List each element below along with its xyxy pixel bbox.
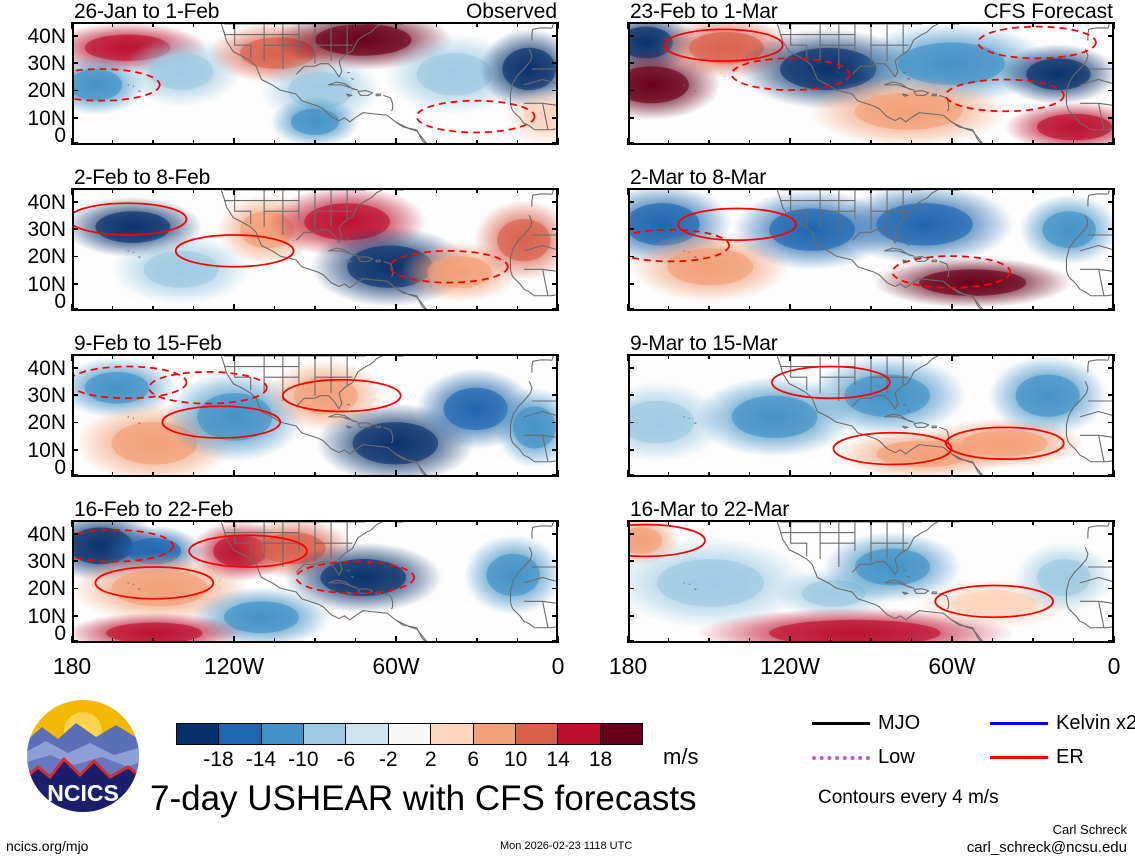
colorbar-swatch [601,724,642,744]
colorbar-swatch [177,724,219,744]
x-axis-labels-obs-4: 180120W60W0 [72,655,558,681]
y-axis-tick-label: 30N [27,219,66,240]
x-axis-tick-label: 120W [760,655,820,678]
legend-label: ER [1056,746,1084,769]
panel-title-fcst-3: 9-Mar to 15-Mar [630,333,778,354]
contour-interval-note: Contours every 4 m/s [818,787,999,809]
y-axis-tick-label: 30N [27,385,66,406]
colorbar-tick-label: -10 [288,748,318,772]
colorbar-swatch [262,724,304,744]
colorbar-tick-label: -2 [379,748,398,772]
x-axis-tick-label: 60W [928,655,975,678]
panel-title-obs-3: 9-Feb to 15-Feb [74,333,222,354]
y-axis-tick-label: 40N [27,358,66,379]
shading-field-fcst-2 [630,190,1112,309]
panel-title-obs-2: 2-Feb to 8-Feb [74,167,210,188]
x-axis-tick-label: 0 [552,655,565,678]
author-name: Carl Schreck [1053,822,1127,837]
y-axis-tick-label: 20N [27,80,66,101]
colorbar-tick-label: 10 [504,748,527,772]
colorbar-swatch [558,724,600,744]
panel-title-fcst-2: 2-Mar to 8-Mar [630,167,766,188]
figure-main-title: 7-day USHEAR with CFS forecasts [150,781,697,816]
colorbar-tick-label: -18 [203,748,233,772]
x-axis-tick-label: 0 [1108,655,1121,678]
x-axis-tick-label: 60W [372,655,419,678]
legend-label: MJO [878,712,920,735]
panel-title-fcst-1: 23-Feb to 1-Mar [630,1,778,22]
colorbar-units-label: m/s [663,744,698,770]
wave-type-legend: MJOKelvin x2LowER [812,712,1112,774]
colorbar-swatch [516,724,558,744]
legend-label: Kelvin x2 [1056,712,1135,735]
panel-title-obs-1: 26-Jan to 1-Feb [74,1,219,22]
panel-title-obs-4: 16-Feb to 22-Feb [74,499,233,520]
map-area-fcst-1[interactable] [628,22,1114,145]
legend-line-swatch [812,722,870,725]
colorbar-tick-label: 14 [546,748,569,772]
y-axis-tick-label: 0 [54,457,66,478]
colorbar-tick-labels: -18-14-10-6-226101418 [176,748,643,772]
y-axis-tick-label: 20N [27,578,66,599]
shading-field-fcst-1 [630,24,1112,143]
x-axis-tick-label: 180 [609,655,647,678]
colorbar-tick-label: 6 [467,748,479,772]
colorbar-swatch [474,724,516,744]
map-area-fcst-4[interactable] [628,520,1114,643]
y-axis-labels-obs-2: 40N30N20N10N0 [0,188,66,311]
shading-field-fcst-3 [630,356,1112,475]
y-axis-tick-label: 30N [27,551,66,572]
column-tag-fcst-1: CFS Forecast [983,1,1113,22]
map-area-obs-1[interactable] [72,22,558,145]
column-tag-obs-1: Observed [466,1,557,22]
generation-timestamp: Mon 2026-02-23 1118 UTC [500,840,632,852]
x-axis-tick-label: 180 [53,655,91,678]
y-axis-tick-label: 20N [27,246,66,267]
colorbar-tick-label: 2 [425,748,437,772]
y-axis-tick-label: 10N [27,108,66,129]
y-axis-tick-label: 0 [54,291,66,312]
y-axis-labels-obs-4: 40N30N20N10N0 [0,520,66,643]
legend-item-kelvin-x2[interactable]: Kelvin x2 [990,712,1135,735]
colorbar-tick-label: -14 [246,748,276,772]
ncics-logo-text: NCICS [47,780,119,806]
colorbar-swatch [389,724,431,744]
site-url[interactable]: ncics.org/mjo [6,838,88,854]
legend-line-swatch [812,756,870,760]
map-area-fcst-3[interactable] [628,354,1114,477]
y-axis-tick-label: 40N [27,26,66,47]
legend-item-low[interactable]: Low [812,746,915,769]
y-axis-tick-label: 10N [27,606,66,627]
y-axis-tick-label: 40N [27,192,66,213]
x-axis-labels-fcst-4: 180120W60W0 [628,655,1114,681]
shading-field-obs-2 [74,190,556,309]
shading-field-fcst-4 [630,522,1112,641]
legend-label: Low [878,746,915,769]
y-axis-labels-obs-3: 40N30N20N10N0 [0,354,66,477]
shading-field-obs-1 [74,24,556,143]
map-area-obs-3[interactable] [72,354,558,477]
panel-title-fcst-4: 16-Mar to 22-Mar [630,499,789,520]
colorbar-tick-label: 18 [589,748,612,772]
colorbar-swatch [346,724,388,744]
colorbar-swatch [219,724,261,744]
map-area-fcst-2[interactable] [628,188,1114,311]
colorbar-tick-label: -6 [336,748,355,772]
y-axis-tick-label: 0 [54,125,66,146]
legend-line-swatch [990,756,1048,759]
colorbar-swatch [304,724,346,744]
ncics-logo-mark: NCICS [24,697,142,815]
y-axis-labels-obs-1: 40N30N20N10N0 [0,22,66,145]
shading-field-obs-3 [74,356,556,475]
map-area-obs-2[interactable] [72,188,558,311]
shading-field-obs-4 [74,522,556,641]
y-axis-tick-label: 40N [27,524,66,545]
legend-item-mjo[interactable]: MJO [812,712,920,735]
y-axis-tick-label: 20N [27,412,66,433]
colorbar [176,723,643,745]
ncics-logo[interactable]: NCICS [24,697,142,815]
y-axis-tick-label: 0 [54,623,66,644]
y-axis-tick-label: 10N [27,440,66,461]
map-area-obs-4[interactable] [72,520,558,643]
author-email[interactable]: carl_schreck@ncsu.edu [967,839,1127,856]
colorbar-swatch [431,724,473,744]
legend-line-swatch [990,722,1048,725]
y-axis-tick-label: 10N [27,274,66,295]
legend-item-er[interactable]: ER [990,746,1084,769]
y-axis-tick-label: 30N [27,53,66,74]
x-axis-tick-label: 120W [204,655,264,678]
